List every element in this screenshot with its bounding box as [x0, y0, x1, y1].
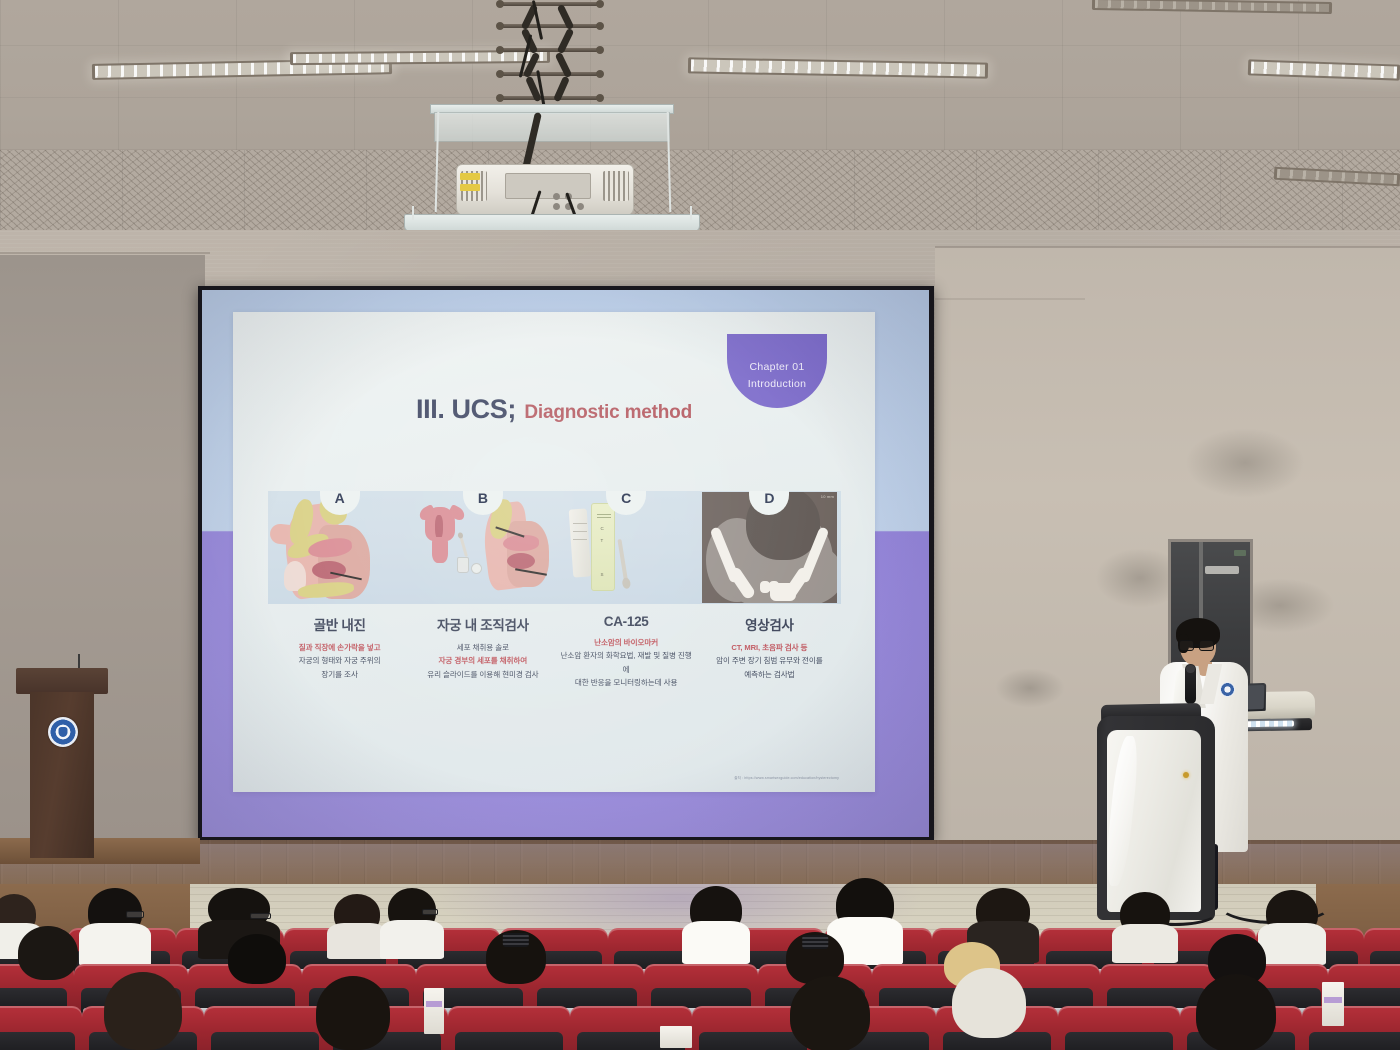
audience-seating	[0, 930, 1400, 1050]
seat[interactable]	[448, 1006, 570, 1050]
caption-line: 예측하는 검사법	[702, 668, 837, 681]
audience-member	[486, 930, 546, 984]
figure-row: A	[268, 491, 841, 604]
lift-hanger-wire	[412, 206, 414, 220]
caption-line: 대한 반응을 모니터링하는데 사용	[559, 676, 694, 689]
caption-line: 장기를 조사	[272, 668, 407, 681]
caption-line: 질과 직장에 손가락을 넣고	[272, 641, 407, 654]
strip-label-s: S	[601, 572, 604, 577]
audience-member	[952, 968, 1026, 1038]
figure-cell-d: 10 mm D	[698, 491, 841, 604]
figure-cell-c: C T S C	[555, 491, 698, 604]
handout-paper[interactable]	[1322, 982, 1344, 1026]
ct-scale-label: 10 mm	[821, 494, 834, 499]
caption-line: 유리 슬라이드를 이용해 현미경 검사	[415, 668, 550, 681]
av-control-podium[interactable]	[1097, 716, 1215, 920]
figure-cell-a: A	[268, 491, 411, 604]
slide-title: III. UCS; Diagnostic method	[233, 394, 875, 425]
lectern-body	[30, 692, 94, 858]
chapter-badge-line2: Introduction	[748, 378, 806, 391]
slide-title-sub: Diagnostic method	[524, 402, 692, 423]
caption-column-c: CA-125 난소암의 바이오마커 난소암 환자의 화학요법, 재발 및 질병 …	[555, 614, 698, 729]
wall-seam	[935, 246, 1400, 248]
caption-heading: 자궁 내 조직검사	[415, 614, 550, 634]
lab-coat-emblem-patch	[1220, 682, 1235, 697]
caption-heading: CA-125	[559, 614, 694, 629]
university-emblem	[48, 717, 78, 747]
chapter-badge-line1: Chapter 01	[750, 361, 805, 374]
caption-heading: 골반 내진	[272, 614, 407, 634]
exit-sign-icon	[1234, 550, 1246, 556]
lectern-top	[16, 668, 108, 694]
ceiling-projector	[456, 164, 634, 216]
seat[interactable]	[0, 1006, 82, 1050]
caption-line: 세포 채취용 솔로	[415, 641, 550, 654]
audience-member	[18, 926, 78, 980]
projector-scissor-lift	[498, 0, 602, 108]
eyeglasses-icon	[1178, 640, 1218, 651]
audience-member	[228, 934, 286, 984]
strip-label-c: C	[601, 526, 604, 531]
audience-member	[1266, 890, 1318, 936]
wooden-lectern[interactable]	[16, 668, 108, 858]
caption-line: 난소암의 바이오마커	[559, 636, 694, 649]
audience-member	[1196, 974, 1276, 1050]
caption-line: 자궁의 형태와 자궁 주위의	[272, 654, 407, 667]
audience-member	[1120, 892, 1170, 936]
caption-line: CT, MRI, 초음파 검사 등	[702, 641, 837, 654]
caption-column-a: 골반 내진 질과 직장에 손가락을 넣고 자궁의 형태와 자궁 주위의 장기를 …	[268, 614, 411, 729]
audience-member	[388, 888, 436, 932]
handout-paper[interactable]	[660, 1026, 692, 1048]
lift-hanger-wire	[690, 206, 692, 220]
strip-label-t: T	[601, 538, 604, 543]
seat[interactable]	[204, 1006, 326, 1050]
audience-member	[836, 878, 894, 932]
slide-content-card: Chapter 01 Introduction III. UCS; Diagno…	[233, 312, 875, 792]
lecture-hall-scene: Chapter 01 Introduction III. UCS; Diagno…	[0, 0, 1400, 1050]
audience-member	[976, 888, 1030, 934]
handheld-microphone[interactable]	[1185, 664, 1196, 704]
projector-lift-skirt	[434, 112, 670, 142]
caption-line: 암이 주변 장기 침범 유무와 전이를	[702, 654, 837, 667]
doorway-ceiling-light	[1205, 566, 1239, 574]
audience-member	[316, 976, 390, 1050]
audience-member	[690, 886, 742, 934]
caption-column-d: 영상검사 CT, MRI, 초음파 검사 등 암이 주변 장기 침범 유무와 전…	[698, 614, 841, 729]
source-citation: 출처 : https://www.smartsexguide.com/educa…	[734, 776, 839, 781]
seat[interactable]	[1058, 1006, 1180, 1050]
audience-member	[208, 888, 270, 932]
projection-screen: Chapter 01 Introduction III. UCS; Diagno…	[198, 286, 934, 842]
audience-member	[88, 888, 142, 936]
caption-row: 골반 내진 질과 직장에 손가락을 넣고 자궁의 형태와 자궁 주위의 장기를 …	[268, 614, 841, 729]
caption-heading: 영상검사	[702, 614, 837, 634]
figure-cell-b: B	[411, 491, 554, 604]
audience-member	[790, 976, 870, 1050]
podium-power-indicator	[1183, 772, 1189, 778]
audience-member	[334, 894, 380, 934]
seat-row	[0, 1006, 1400, 1050]
presentation-slide: Chapter 01 Introduction III. UCS; Diagno…	[202, 290, 929, 837]
handout-paper[interactable]	[424, 988, 444, 1034]
caption-line: 난소암 환자의 화학요법, 재발 및 질병 진행에	[559, 649, 694, 676]
caption-column-b: 자궁 내 조직검사 세포 채취용 솔로 자궁 경부의 세포를 채취하여 유리 슬…	[411, 614, 554, 729]
seat[interactable]	[1302, 1006, 1400, 1050]
audience-member	[104, 972, 182, 1050]
slide-title-main: III. UCS;	[416, 394, 516, 424]
caption-line: 자궁 경부의 세포를 채취하여	[415, 654, 550, 667]
wall-seam	[0, 252, 210, 254]
wall-seam	[935, 298, 1085, 300]
